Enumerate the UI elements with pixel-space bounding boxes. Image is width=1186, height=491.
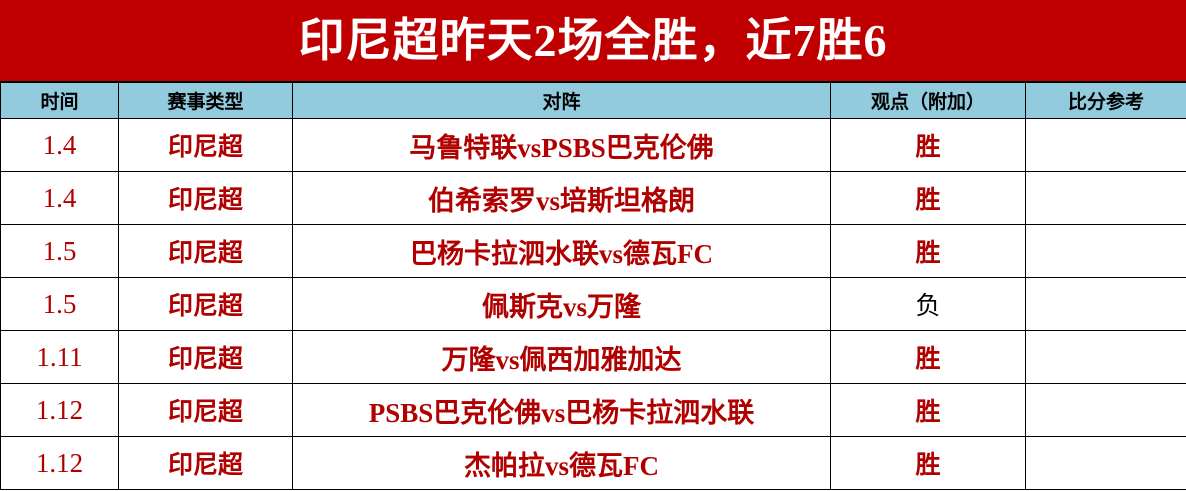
cell-matchup: 杰帕拉vs德瓦FC bbox=[293, 437, 831, 490]
cell-score-reference bbox=[1026, 437, 1186, 490]
cell-time: 1.4 bbox=[1, 172, 119, 225]
table-row: 1.4印尼超伯希索罗vs培斯坦格朗胜 bbox=[1, 172, 1186, 225]
cell-prediction-result: 负 bbox=[831, 278, 1026, 331]
cell-matchup: PSBS巴克伦佛vs巴杨卡拉泗水联 bbox=[293, 384, 831, 437]
cell-matchup: 佩斯克vs万隆 bbox=[293, 278, 831, 331]
table-row: 1.5印尼超佩斯克vs万隆负 bbox=[1, 278, 1186, 331]
cell-league-type: 印尼超 bbox=[119, 437, 293, 490]
cell-score-reference bbox=[1026, 225, 1186, 278]
cell-time: 1.11 bbox=[1, 331, 119, 384]
cell-league-type: 印尼超 bbox=[119, 331, 293, 384]
cell-time: 1.5 bbox=[1, 278, 119, 331]
table-row: 1.11印尼超万隆vs佩西加雅加达胜 bbox=[1, 331, 1186, 384]
cell-time: 1.12 bbox=[1, 384, 119, 437]
cell-league-type: 印尼超 bbox=[119, 119, 293, 172]
cell-league-type: 印尼超 bbox=[119, 278, 293, 331]
cell-prediction-result: 胜 bbox=[831, 172, 1026, 225]
cell-prediction-result: 胜 bbox=[831, 437, 1026, 490]
cell-matchup: 巴杨卡拉泗水联vs德瓦FC bbox=[293, 225, 831, 278]
column-header-score: 比分参考 bbox=[1026, 83, 1186, 119]
cell-score-reference bbox=[1026, 331, 1186, 384]
cell-time: 1.4 bbox=[1, 119, 119, 172]
cell-score-reference bbox=[1026, 384, 1186, 437]
table-header-row: 时间 赛事类型 对阵 观点（附加） 比分参考 bbox=[1, 83, 1186, 119]
table-row: 1.4印尼超马鲁特联vsPSBS巴克伦佛胜 bbox=[1, 119, 1186, 172]
prediction-table-page: 印尼超昨天2场全胜，近7胜6 时间 赛事类型 对阵 观点（附加） 比分参考 1.… bbox=[0, 0, 1186, 491]
column-header-match: 对阵 bbox=[293, 83, 831, 119]
cell-league-type: 印尼超 bbox=[119, 172, 293, 225]
cell-score-reference bbox=[1026, 278, 1186, 331]
column-header-type: 赛事类型 bbox=[119, 83, 293, 119]
cell-matchup: 万隆vs佩西加雅加达 bbox=[293, 331, 831, 384]
cell-matchup: 伯希索罗vs培斯坦格朗 bbox=[293, 172, 831, 225]
cell-prediction-result: 胜 bbox=[831, 331, 1026, 384]
cell-score-reference bbox=[1026, 119, 1186, 172]
cell-league-type: 印尼超 bbox=[119, 225, 293, 278]
column-header-time: 时间 bbox=[1, 83, 119, 119]
cell-matchup: 马鲁特联vsPSBS巴克伦佛 bbox=[293, 119, 831, 172]
page-title: 印尼超昨天2场全胜，近7胜6 bbox=[299, 18, 888, 64]
cell-prediction-result: 胜 bbox=[831, 384, 1026, 437]
cell-prediction-result: 胜 bbox=[831, 119, 1026, 172]
cell-prediction-result: 胜 bbox=[831, 225, 1026, 278]
cell-time: 1.5 bbox=[1, 225, 119, 278]
match-predictions-table: 时间 赛事类型 对阵 观点（附加） 比分参考 1.4印尼超马鲁特联vsPSBS巴… bbox=[0, 82, 1186, 490]
table-row: 1.5印尼超巴杨卡拉泗水联vs德瓦FC胜 bbox=[1, 225, 1186, 278]
column-header-view: 观点（附加） bbox=[831, 83, 1026, 119]
cell-score-reference bbox=[1026, 172, 1186, 225]
table-body: 1.4印尼超马鲁特联vsPSBS巴克伦佛胜1.4印尼超伯希索罗vs培斯坦格朗胜1… bbox=[1, 119, 1186, 490]
table-row: 1.12印尼超杰帕拉vs德瓦FC胜 bbox=[1, 437, 1186, 490]
title-banner: 印尼超昨天2场全胜，近7胜6 bbox=[0, 0, 1186, 82]
table-row: 1.12印尼超PSBS巴克伦佛vs巴杨卡拉泗水联胜 bbox=[1, 384, 1186, 437]
cell-league-type: 印尼超 bbox=[119, 384, 293, 437]
cell-time: 1.12 bbox=[1, 437, 119, 490]
